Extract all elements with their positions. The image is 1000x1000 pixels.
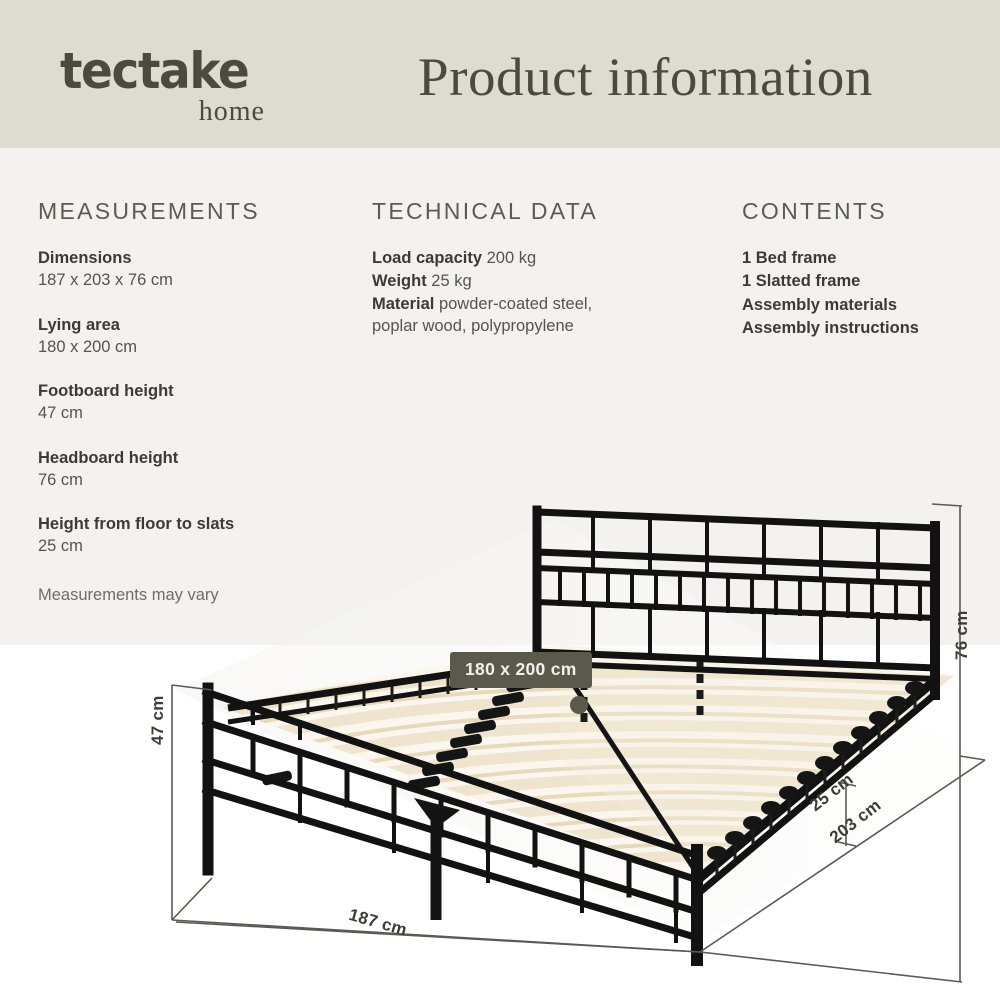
spec-lying-area: Lying area 180 x 200 cm [38, 314, 358, 359]
technical-term: Material [372, 295, 434, 313]
spec-footboard-height: Footboard height 47 cm [38, 380, 358, 425]
technical-value: powder-coated steel, [434, 295, 592, 313]
technical-row-material: Material powder-coated steel, [372, 293, 722, 316]
header-band: tectake home Product information [0, 0, 1000, 148]
spec-term: Lying area [38, 314, 358, 336]
lying-area-callout: 180 x 200 cm [450, 652, 592, 688]
column-contents: CONTENTS 1 Bed frame 1 Slatted frame Ass… [742, 148, 992, 341]
technical-heading: TECHNICAL DATA [372, 198, 722, 225]
list-item: 1 Bed frame [742, 247, 992, 270]
technical-value: 25 kg [427, 272, 472, 290]
list-item: 1 Slatted frame [742, 270, 992, 293]
measurements-heading: MEASUREMENTS [38, 198, 358, 225]
technical-rows: Load capacity 200 kg Weight 25 kg Materi… [372, 247, 722, 338]
spec-value: 47 cm [38, 402, 358, 424]
technical-material-continuation: poplar wood, polypropylene [372, 315, 722, 338]
list-item: Assembly materials [742, 294, 992, 317]
column-technical-data: TECHNICAL DATA Load capacity 200 kg Weig… [372, 148, 722, 338]
technical-value: 200 kg [482, 249, 536, 267]
contents-heading: CONTENTS [742, 198, 992, 225]
spec-value: 187 x 203 x 76 cm [38, 269, 358, 291]
spec-dimensions: Dimensions 187 x 203 x 76 cm [38, 247, 358, 292]
brand-logo: tectake home [60, 46, 280, 136]
technical-term: Weight [372, 272, 427, 290]
technical-row-load-capacity: Load capacity 200 kg [372, 247, 722, 270]
page-title: Product information [418, 46, 873, 108]
logo-subtitle: home [60, 98, 265, 126]
technical-term: Load capacity [372, 249, 482, 267]
dimension-label-headboard-height: 76 cm [952, 610, 972, 660]
dimension-label-footboard-height: 47 cm [148, 695, 168, 745]
logo-wordmark: tectake [60, 46, 267, 96]
contents-list: 1 Bed frame 1 Slatted frame Assembly mat… [742, 247, 992, 341]
technical-row-weight: Weight 25 kg [372, 270, 722, 293]
list-item: Assembly instructions [742, 317, 992, 340]
spec-term: Dimensions [38, 247, 358, 269]
spec-value: 180 x 200 cm [38, 336, 358, 358]
spec-term: Footboard height [38, 380, 358, 402]
product-information-sheet: tectake home Product information MEASURE… [0, 0, 1000, 1000]
